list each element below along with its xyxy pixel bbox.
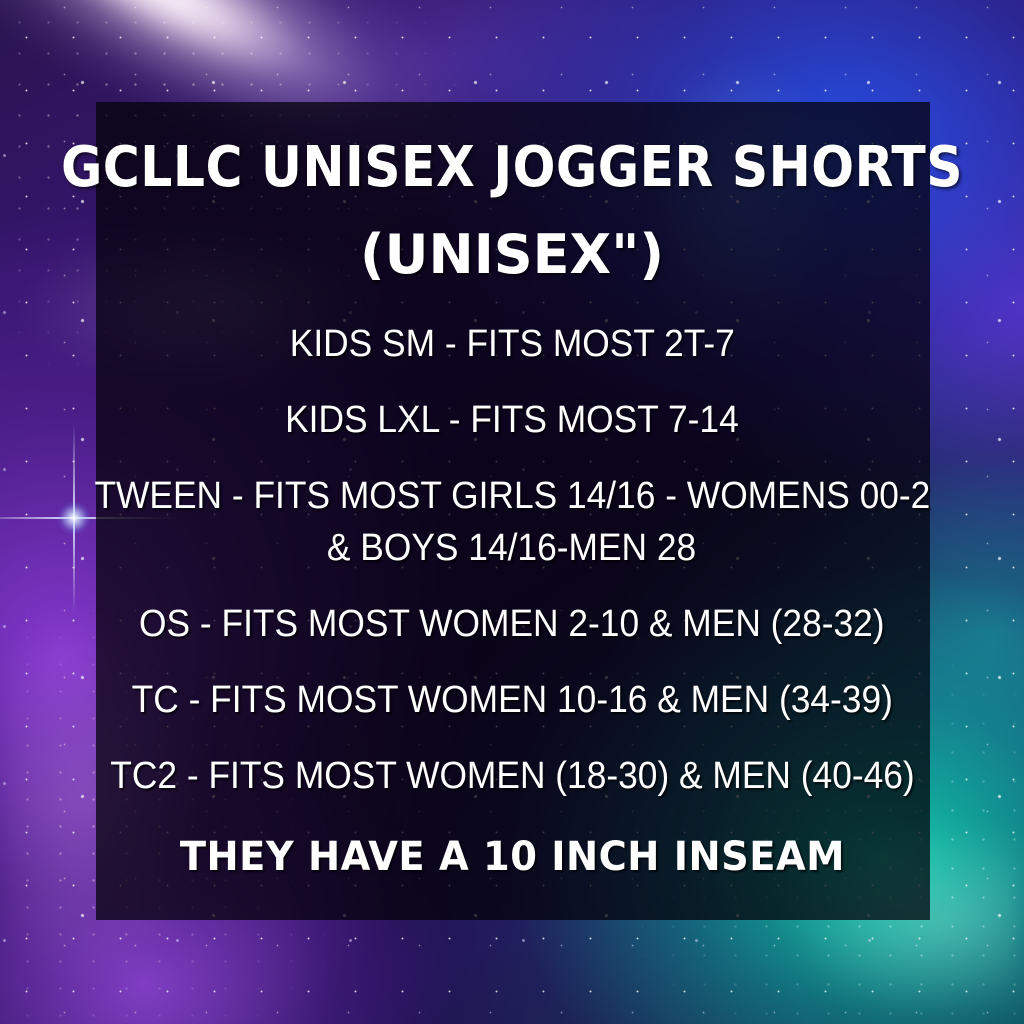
sizing-graphic-canvas: GCLLC UNISEX JOGGER SHORTS (UNISEX") KID…: [0, 0, 1024, 1024]
sizing-line-kids-sm: KIDS SM - FITS MOST 2T-7: [289, 325, 734, 363]
sizing-line-kids-lxl: KIDS LXL - FITS MOST 7-14: [285, 401, 739, 439]
inseam-note: THEY HAVE A 10 INCH INSEAM: [179, 837, 844, 877]
sizing-line-os: OS - FITS MOST WOMEN 2-10 & MEN (28-32): [139, 605, 885, 643]
sizing-content: GCLLC UNISEX JOGGER SHORTS (UNISEX") KID…: [0, 0, 1024, 1024]
sizing-line-tc2: TC2 - FITS MOST WOMEN (18-30) & MEN (40-…: [110, 757, 914, 795]
sizing-line-list: KIDS SM - FITS MOST 2T-7KIDS LXL - FITS …: [0, 325, 1024, 877]
sizing-line-tc: TC - FITS MOST WOMEN 10-16 & MEN (34-39): [131, 681, 892, 719]
sizing-line-tween-2: & BOYS 14/16-MEN 28: [327, 529, 696, 567]
page-subtitle: (UNISEX"): [0, 228, 1024, 282]
sizing-line-tween-1: TWEEN - FITS MOST GIRLS 14/16 - WOMENS 0…: [94, 477, 930, 515]
page-title: GCLLC UNISEX JOGGER SHORTS: [0, 140, 1024, 196]
